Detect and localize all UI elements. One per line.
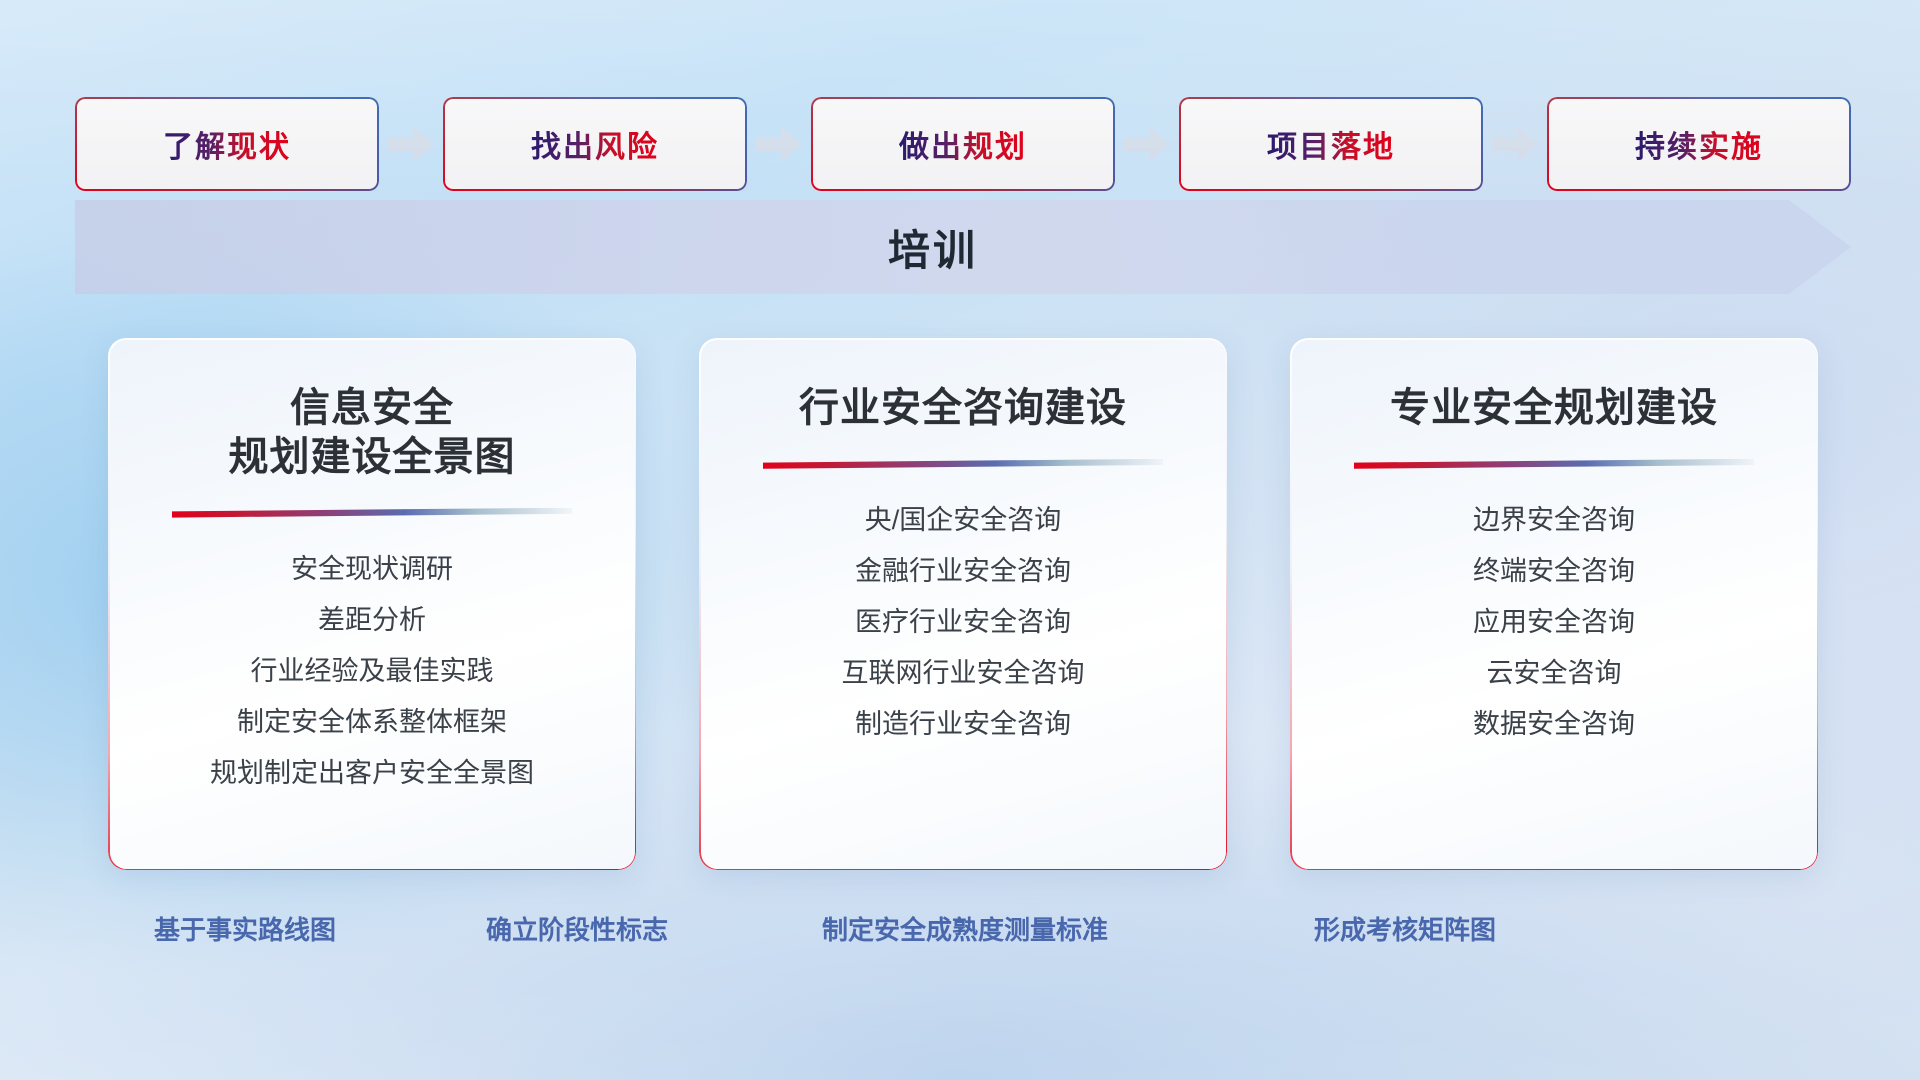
- step-box-2[interactable]: 找出风险: [443, 97, 747, 191]
- step-label-2: 找出风险: [531, 122, 659, 166]
- footer-label-row: 基于事实路线图 确立阶段性标志 制定安全成熟度测量标准 形成考核矩阵图: [0, 910, 1920, 964]
- step-arrow-icon-3: [1115, 97, 1179, 191]
- step-label-1: 了解现状: [163, 122, 291, 166]
- list-item: 差距分析: [318, 603, 426, 638]
- process-step-row: 了解现状 找出风险 做出规划 项目落地: [75, 97, 1850, 191]
- step-box-1[interactable]: 了解现状: [75, 97, 379, 191]
- footer-label-4: 形成考核矩阵图: [1314, 910, 1496, 947]
- list-item: 互联网行业安全咨询: [842, 656, 1085, 691]
- card-2-title: 行业安全咨询建设: [799, 384, 1127, 433]
- list-item: 应用安全咨询: [1473, 605, 1635, 640]
- list-item: 制造行业安全咨询: [855, 707, 1071, 742]
- banner-label: 培训: [75, 200, 1851, 294]
- card-1-list: 安全现状调研 差距分析 行业经验及最佳实践 制定安全体系整体框架 规划制定出客户…: [210, 552, 534, 791]
- list-item: 云安全咨询: [1487, 656, 1622, 691]
- card-1-divider: [172, 508, 572, 518]
- list-item: 医疗行业安全咨询: [855, 605, 1071, 640]
- list-item: 制定安全体系整体框架: [237, 705, 507, 740]
- step-label-5: 持续实施: [1635, 122, 1763, 166]
- card-3-list: 边界安全咨询 终端安全咨询 应用安全咨询 云安全咨询 数据安全咨询: [1473, 503, 1635, 742]
- list-item: 安全现状调研: [291, 552, 453, 587]
- step-label-3: 做出规划: [899, 122, 1027, 166]
- list-item: 央/国企安全咨询: [865, 503, 1062, 538]
- step-arrow-icon-1: [379, 97, 443, 191]
- step-arrow-icon-2: [747, 97, 811, 191]
- footer-label-2: 确立阶段性标志: [486, 910, 668, 947]
- card-1-title: 信息安全 规划建设全景图: [229, 384, 516, 482]
- step-label-4: 项目落地: [1267, 122, 1395, 166]
- list-item: 金融行业安全咨询: [855, 554, 1071, 589]
- card-3-title: 专业安全规划建设: [1390, 384, 1718, 433]
- list-item: 规划制定出客户安全全景图: [210, 756, 534, 791]
- list-item: 边界安全咨询: [1473, 503, 1635, 538]
- card-2[interactable]: 行业安全咨询建设 央/国企安全咨询 金融行业安全咨询 医疗行业安全咨询 互联网行…: [699, 338, 1227, 870]
- footer-label-1: 基于事实路线图: [154, 910, 336, 947]
- step-box-5[interactable]: 持续实施: [1547, 97, 1851, 191]
- card-2-divider: [763, 459, 1163, 469]
- slide-canvas: 了解现状 找出风险 做出规划 项目落地: [0, 0, 1920, 1080]
- step-arrow-icon-4: [1483, 97, 1547, 191]
- step-box-3[interactable]: 做出规划: [811, 97, 1115, 191]
- footer-label-3: 制定安全成熟度测量标准: [822, 910, 1108, 947]
- list-item: 终端安全咨询: [1473, 554, 1635, 589]
- list-item: 数据安全咨询: [1473, 707, 1635, 742]
- card-3-divider: [1354, 459, 1754, 469]
- list-item: 行业经验及最佳实践: [251, 654, 494, 689]
- card-row: 信息安全 规划建设全景图 安全现状调研 差距分析 行业经验及最佳实践 制定安全体…: [108, 338, 1818, 870]
- card-2-list: 央/国企安全咨询 金融行业安全咨询 医疗行业安全咨询 互联网行业安全咨询 制造行…: [842, 503, 1085, 742]
- card-1[interactable]: 信息安全 规划建设全景图 安全现状调研 差距分析 行业经验及最佳实践 制定安全体…: [108, 338, 636, 870]
- card-3[interactable]: 专业安全规划建设 边界安全咨询 终端安全咨询 应用安全咨询 云安全咨询 数据安全…: [1290, 338, 1818, 870]
- step-box-4[interactable]: 项目落地: [1179, 97, 1483, 191]
- training-banner: 培训: [75, 200, 1851, 294]
